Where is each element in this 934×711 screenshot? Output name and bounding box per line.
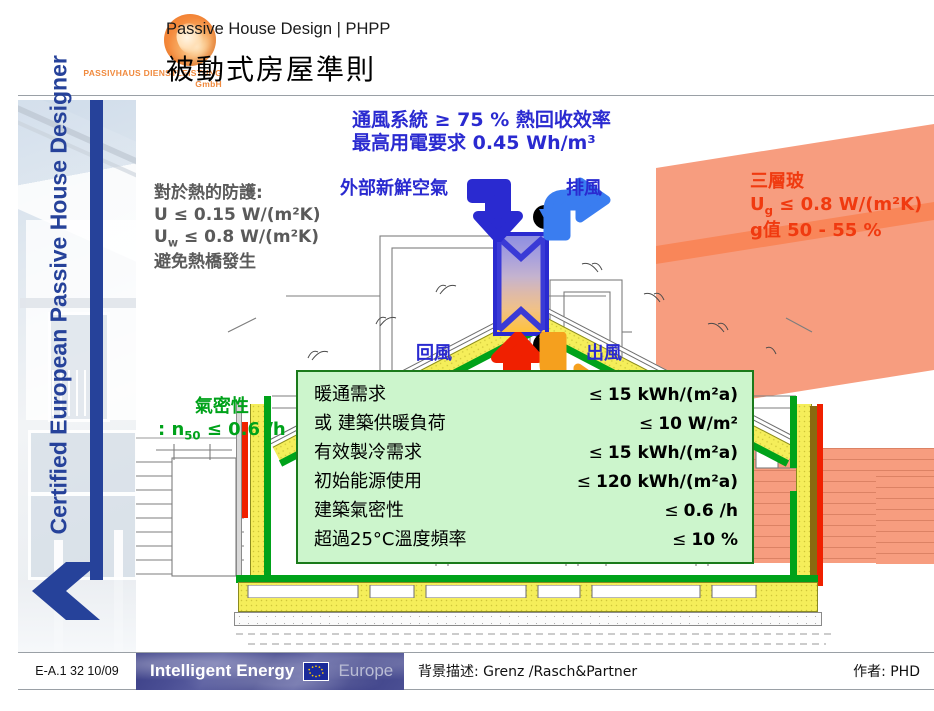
table-row: 初始能源使用 ≤120 kWh/(m²a)	[314, 467, 738, 496]
operator: ≤	[589, 443, 603, 463]
heat-exchanger-core-icon	[497, 236, 545, 332]
sidebar-certification-label: Certified European Passive House Designe…	[46, 65, 73, 535]
requirements-table: 暖通需求 ≤15 kWh/(m²a) 或 建築供暖負荷 ≤10 W/m² 有效製…	[296, 370, 754, 564]
requirement-value: ≤120 kWh/(m²a)	[577, 472, 738, 492]
floor-joist-blocks	[244, 585, 810, 598]
return-air-label: 回風	[416, 339, 452, 365]
heat-protection-line-1: 對於熱的防護:	[154, 182, 321, 204]
slide-header: PASSIVHAUS DIENSTLEISTUNG GmbH Passive H…	[18, 0, 934, 96]
n50-symbol: : n	[158, 419, 184, 440]
airtightness-line-1: 氣密性	[158, 396, 286, 419]
ventilation-callout: 通風系統 ≥ 75 % 熱回收效率 最高用電要求 0.45 Wh/m³	[352, 109, 611, 155]
table-row: 或 建築供暖負荷 ≤10 W/m²	[314, 409, 738, 438]
exhaust-air-label: 排風	[566, 174, 602, 200]
requirement-label: 有效製冷需求	[314, 438, 422, 464]
footer-author: 作者: PHD	[853, 661, 934, 681]
table-row: 建築氣密性 ≤0.6 /h	[314, 496, 738, 525]
ug-value: ≤ 0.8 W/(m²K)	[773, 194, 922, 215]
fresh-air-arrow	[466, 176, 544, 242]
building-photo-band	[20, 298, 136, 308]
glazing-line-3: g值 50 - 55 %	[750, 219, 922, 242]
requirement-label: 或 建築供暖負荷	[314, 409, 446, 435]
ug-subscript: g	[765, 204, 773, 218]
header-subtitle: Passive House Design | PHPP	[166, 20, 390, 39]
glazing-line-1: 三層玻	[750, 170, 922, 193]
value: 0.6 /h	[684, 501, 738, 521]
n50-value: ≤ 0.6 /h	[201, 419, 286, 440]
sidebar-accent-bar	[90, 100, 103, 580]
supply-air-label: 出風	[586, 339, 622, 365]
window-frame-right	[817, 404, 823, 586]
glazing-callout: 三層玻 Ug ≤ 0.8 W/(m²K) g值 50 - 55 %	[750, 170, 922, 242]
table-row: 暖通需求 ≤15 kWh/(m²a)	[314, 380, 738, 409]
window-frame-right-outer	[810, 406, 817, 584]
airtightness-line-2: : n50 ≤ 0.6 /h	[158, 419, 286, 443]
slide-body: 通風系統 ≥ 75 % 熱回收效率 最高用電要求 0.45 Wh/m³ 對於熱的…	[136, 96, 934, 652]
ventilation-line-1: 通風系統 ≥ 75 % 熱回收效率	[352, 109, 611, 132]
heat-protection-callout: 對於熱的防護: U ≤ 0.15 W/(m²K) Uw ≤ 0.8 W/(m²K…	[154, 182, 321, 273]
building-photo-window-mullion	[28, 492, 136, 496]
heat-protection-line-3: Uw ≤ 0.8 W/(m²K)	[154, 226, 321, 251]
operator: ≤	[639, 414, 653, 434]
uw-value: ≤ 0.8 W/(m²K)	[178, 227, 319, 247]
requirement-value: ≤10 W/m²	[639, 414, 738, 434]
slide-code: E-A.1 32 10/09	[18, 664, 136, 678]
airtightness-callout: 氣密性 : n50 ≤ 0.6 /h	[158, 396, 286, 443]
value: 15 kWh/(m²a)	[608, 443, 738, 463]
requirement-value: ≤15 kWh/(m²a)	[589, 385, 738, 405]
glazing-line-2: Ug ≤ 0.8 W/(m²K)	[750, 193, 922, 219]
requirement-label: 暖通需求	[314, 380, 386, 406]
requirement-label: 超過25°C溫度頻率	[314, 525, 466, 551]
requirement-value: ≤0.6 /h	[664, 501, 738, 521]
heat-protection-line-2: U ≤ 0.15 W/(m²K)	[154, 204, 321, 226]
operator: ≤	[589, 385, 603, 405]
foundation-slab	[234, 612, 822, 626]
chevron-left-icon	[22, 560, 100, 622]
requirement-label: 初始能源使用	[314, 467, 422, 493]
value: 10 W/m²	[658, 414, 738, 434]
page-title: 被動式房屋準則	[166, 48, 376, 88]
eu-flag-icon	[303, 662, 329, 681]
heat-protection-line-4: 避免熱橋發生	[154, 251, 321, 273]
value: 15 kWh/(m²a)	[608, 385, 738, 405]
airtight-layer-wall-right-lower	[790, 491, 797, 586]
ug-symbol: U	[750, 194, 765, 215]
operator: ≤	[664, 501, 678, 521]
slide-footer: E-A.1 32 10/09 Intelligent Energy Europe…	[18, 652, 934, 690]
ventilation-line-2: 最高用電要求 0.45 Wh/m³	[352, 132, 611, 155]
intelligent-energy-europe-logo: Intelligent Energy Europe	[136, 653, 404, 690]
requirement-value: ≤10 %	[672, 530, 738, 550]
value: 120 kWh/(m²a)	[596, 472, 738, 492]
requirement-value: ≤15 kWh/(m²a)	[589, 443, 738, 463]
fresh-air-label: 外部新鮮空氣	[340, 174, 448, 200]
uw-subscript: w	[168, 237, 178, 250]
value: 10 %	[691, 530, 738, 550]
airtight-layer-wall-right-upper	[790, 396, 797, 468]
table-row: 有效製冷需求 ≤15 kWh/(m²a)	[314, 438, 738, 467]
uw-symbol: U	[154, 227, 168, 247]
iee-logo-bold-text: Intelligent Energy	[150, 661, 294, 681]
operator: ≤	[672, 530, 686, 550]
requirement-label: 建築氣密性	[314, 496, 404, 522]
footer-description: 背景描述: Grenz /Rasch&Partner	[404, 661, 853, 681]
n50-subscript: 50	[184, 428, 200, 442]
operator: ≤	[577, 472, 591, 492]
iee-logo-light-text: Europe	[338, 661, 393, 681]
table-row: 超過25°C溫度頻率 ≤10 %	[314, 525, 738, 554]
